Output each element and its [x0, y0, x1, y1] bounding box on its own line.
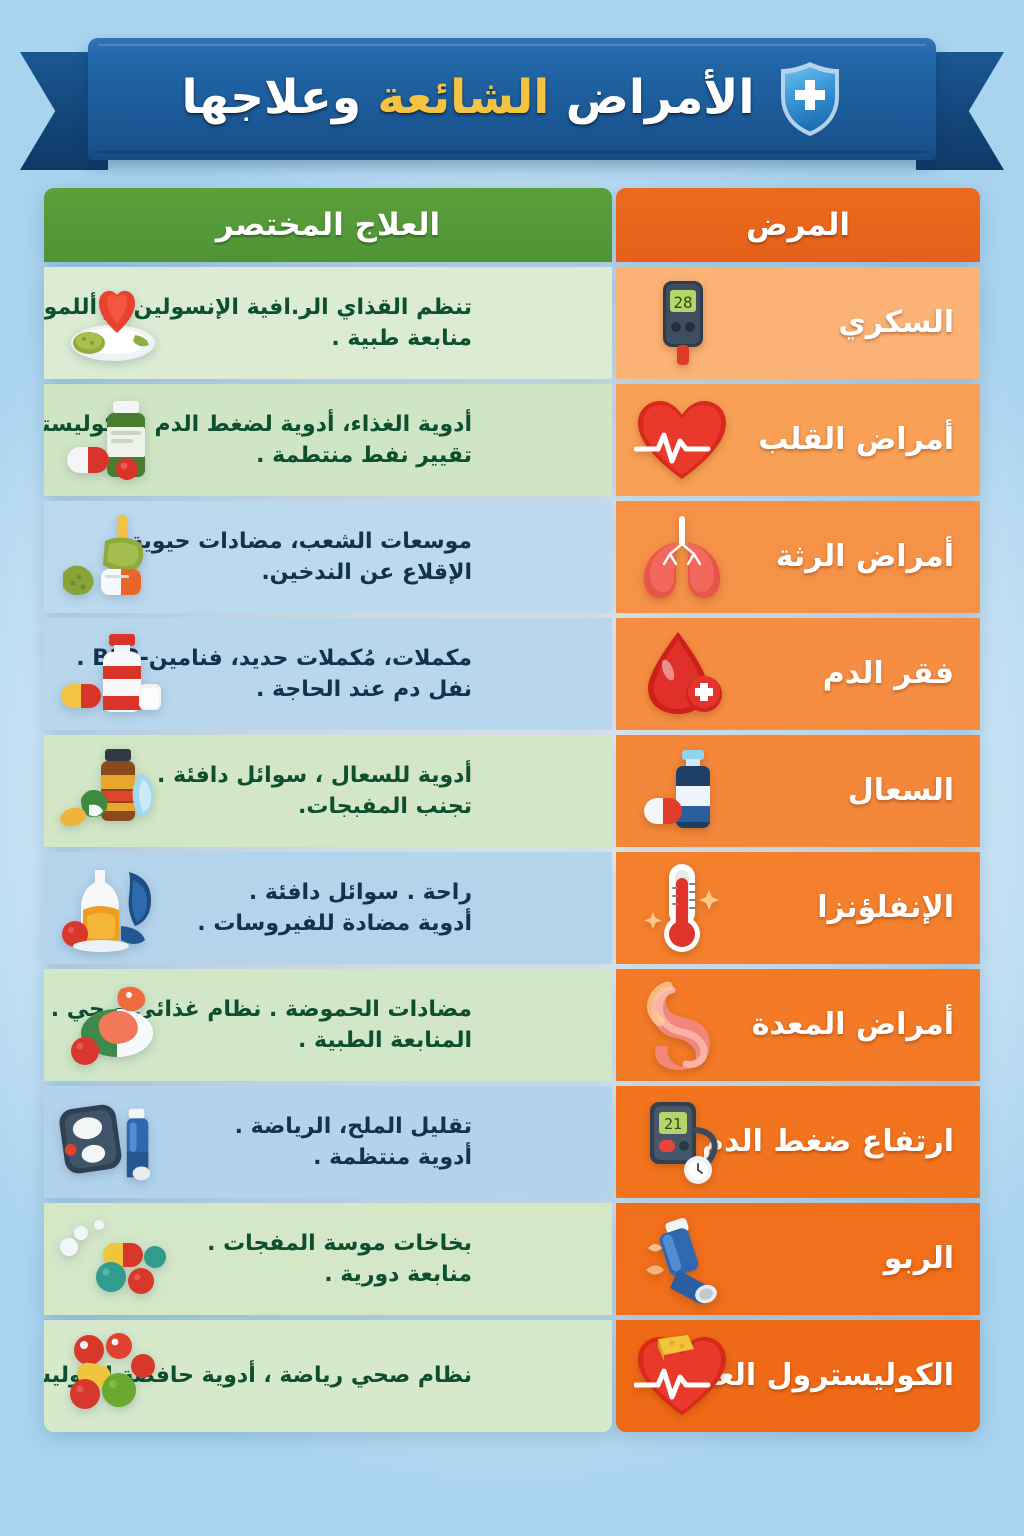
cough-syrup-bottle-icon	[634, 745, 730, 837]
supplements-capsules-icon	[58, 512, 168, 602]
disease-cell: الكوليسترول العالي	[616, 1320, 980, 1432]
disease-cell: السعال	[616, 735, 980, 847]
title-highlight: الشائعة	[377, 70, 549, 125]
blood-drop-plus-icon	[634, 628, 730, 720]
title-part-2: وعلاجها	[182, 70, 378, 125]
page-title: الأمراض الشائعة وعلاجها	[182, 74, 755, 125]
white-red-bottle-icon	[58, 629, 168, 719]
food-plate-icon	[58, 278, 168, 368]
treatment-cell: تنظم القذاي الر.افية الإنسولين أو أللموي…	[44, 267, 612, 379]
treatment-line: بخاخات موسة المفجات .	[207, 1228, 472, 1259]
shield-medical-cross-icon	[777, 60, 843, 138]
treatment-line: أدوية مضادة للفيروسات .	[197, 908, 472, 939]
syrup-bottle-pills-icon	[58, 746, 168, 836]
treatment-cell: موسعات الشعب، مضادات حيوية .الإقلاع عن ا…	[44, 501, 612, 613]
banner-plate: الأمراض الشائعة وعلاجها	[88, 38, 936, 160]
red-green-capsules-icon	[58, 1331, 168, 1421]
table-row: 21 ارتفاع ضغط الدم تقليل الملح، الرياضة …	[44, 1086, 980, 1198]
disease-cell: أمراض المعدة	[616, 969, 980, 1081]
disease-label: فقر الدم	[823, 657, 954, 692]
treatment-text: بخاخات موسة المفجات .منابعة دورية .	[207, 1228, 472, 1290]
antacid-tablets-icon	[58, 980, 168, 1070]
table-row: 28 السكري تنظم القذاي الر.افية الإنسولين…	[44, 267, 980, 379]
treatment-line: منابعة دورية .	[207, 1259, 472, 1290]
treatment-cell: راحة . سوائل دافئة .أدوية مضادة للفيروسا…	[44, 852, 612, 964]
disease-label: ارتفاع ضغط الدم	[702, 1125, 954, 1160]
diseases-table: المرض العلاج المختصر 28 السكري تنظم القذ…	[44, 188, 980, 1432]
table-header-row: المرض العلاج المختصر	[44, 188, 980, 262]
disease-cell: 28 السكري	[616, 267, 980, 379]
table-row: أمراض المعدة مضادات الحموضة . نظام غذائي…	[44, 969, 980, 1081]
treatment-cell: نظام صحي رياضة ، أدوية حافضة للكوليسترول…	[44, 1320, 612, 1432]
colored-capsules-icon	[58, 1214, 168, 1304]
inhaler-icon	[634, 1213, 730, 1305]
header-label-treatment: العلاج المختصر	[216, 210, 440, 241]
table-row: فقر الدم مكملات، مُكملات حديد، فنامين-B1…	[44, 618, 980, 730]
disease-cell: 21 ارتفاع ضغط الدم	[616, 1086, 980, 1198]
disease-cell: أمراض القلب	[616, 384, 980, 496]
svg-text:21: 21	[664, 1115, 682, 1133]
table-row: الربو بخاخات موسة المفجات .منابعة دورية …	[44, 1203, 980, 1315]
treatment-cell: بخاخات موسة المفجات .منابعة دورية .	[44, 1203, 612, 1315]
header-cell-disease: المرض	[616, 188, 980, 262]
treatment-cell: مضادات الحموضة . نظام غذائي صحي .المنابع…	[44, 969, 612, 1081]
table-row: السعال أدوية للسعال ، سوائل دافئة .تجنب …	[44, 735, 980, 847]
disease-label: السعال	[848, 774, 954, 809]
treatment-line: أدوية للسعال ، سوائل دافئة .	[157, 760, 472, 791]
disease-cell: الإنفلؤنزا	[616, 852, 980, 964]
treatment-cell: تقليل الملح، الرياضة .أدوية منتظمة .	[44, 1086, 612, 1198]
disease-label: الإنفلؤنزا	[817, 891, 954, 926]
header-label-disease: المرض	[746, 210, 850, 241]
disease-cell: أمراض الرثة	[616, 501, 980, 613]
disease-label: الربو	[884, 1242, 954, 1277]
table-row: الكوليسترول العالي نظام صحي رياضة ، أدوي…	[44, 1320, 980, 1432]
stomach-icon	[634, 979, 730, 1071]
heart-pulse-icon	[634, 394, 730, 486]
medicine-bottle-pill-icon	[58, 395, 168, 485]
bp-cuff-inhaler-icon	[58, 1097, 168, 1187]
header-cell-treatment: العلاج المختصر	[44, 188, 612, 262]
treatment-line: تجنب المفبجات.	[157, 791, 472, 822]
treatment-line: راحة . سوائل دافئة .	[197, 877, 472, 908]
blood-pressure-monitor-icon: 21	[634, 1096, 730, 1188]
treatment-text: راحة . سوائل دافئة .أدوية مضادة للفيروسا…	[197, 877, 472, 939]
disease-label: أمراض القلب	[758, 423, 954, 458]
table-body: 28 السكري تنظم القذاي الر.افية الإنسولين…	[44, 267, 980, 1432]
disease-label: أمراض المعدة	[752, 1008, 954, 1043]
table-row: أمراض القلب أدوية الغذاء، أدوية لضغط الد…	[44, 384, 980, 496]
treatment-cell: مكملات، مُكملات حديد، فنامين-B12 .نفل دم…	[44, 618, 612, 730]
title-banner: الأمراض الشائعة وعلاجها	[0, 30, 1024, 170]
table-row: أمراض الرثة موسعات الشعب، مضادات حيوية .…	[44, 501, 980, 613]
disease-label: السكري	[838, 306, 954, 341]
thermometer-icon	[634, 862, 730, 954]
treatment-text: تقليل الملح، الرياضة .أدوية منتظمة .	[235, 1111, 472, 1173]
treatment-cell: أدوية الغذاء، أدوية لضغط الدم والكوليستر…	[44, 384, 612, 496]
treatment-line: أدوية منتظمة .	[235, 1142, 472, 1173]
disease-label: أمراض الرثة	[776, 540, 954, 575]
disease-cell: فقر الدم	[616, 618, 980, 730]
treatment-cell: أدوية للسعال ، سوائل دافئة .تجنب المفبجا…	[44, 735, 612, 847]
disease-cell: الربو	[616, 1203, 980, 1315]
tonic-bottle-icon	[58, 863, 168, 953]
title-part-1: الأمراض	[549, 70, 754, 125]
treatment-line: تقليل الملح، الرياضة .	[235, 1111, 472, 1142]
glucose-meter-icon: 28	[634, 277, 730, 369]
table-row: الإنفلؤنزا راحة . سوائل دافئة .أدوية مضا…	[44, 852, 980, 964]
treatment-text: أدوية للسعال ، سوائل دافئة .تجنب المفبجا…	[157, 760, 472, 822]
svg-text:28: 28	[673, 293, 692, 312]
heart-cheese-icon	[634, 1330, 730, 1422]
lungs-icon	[634, 511, 730, 603]
